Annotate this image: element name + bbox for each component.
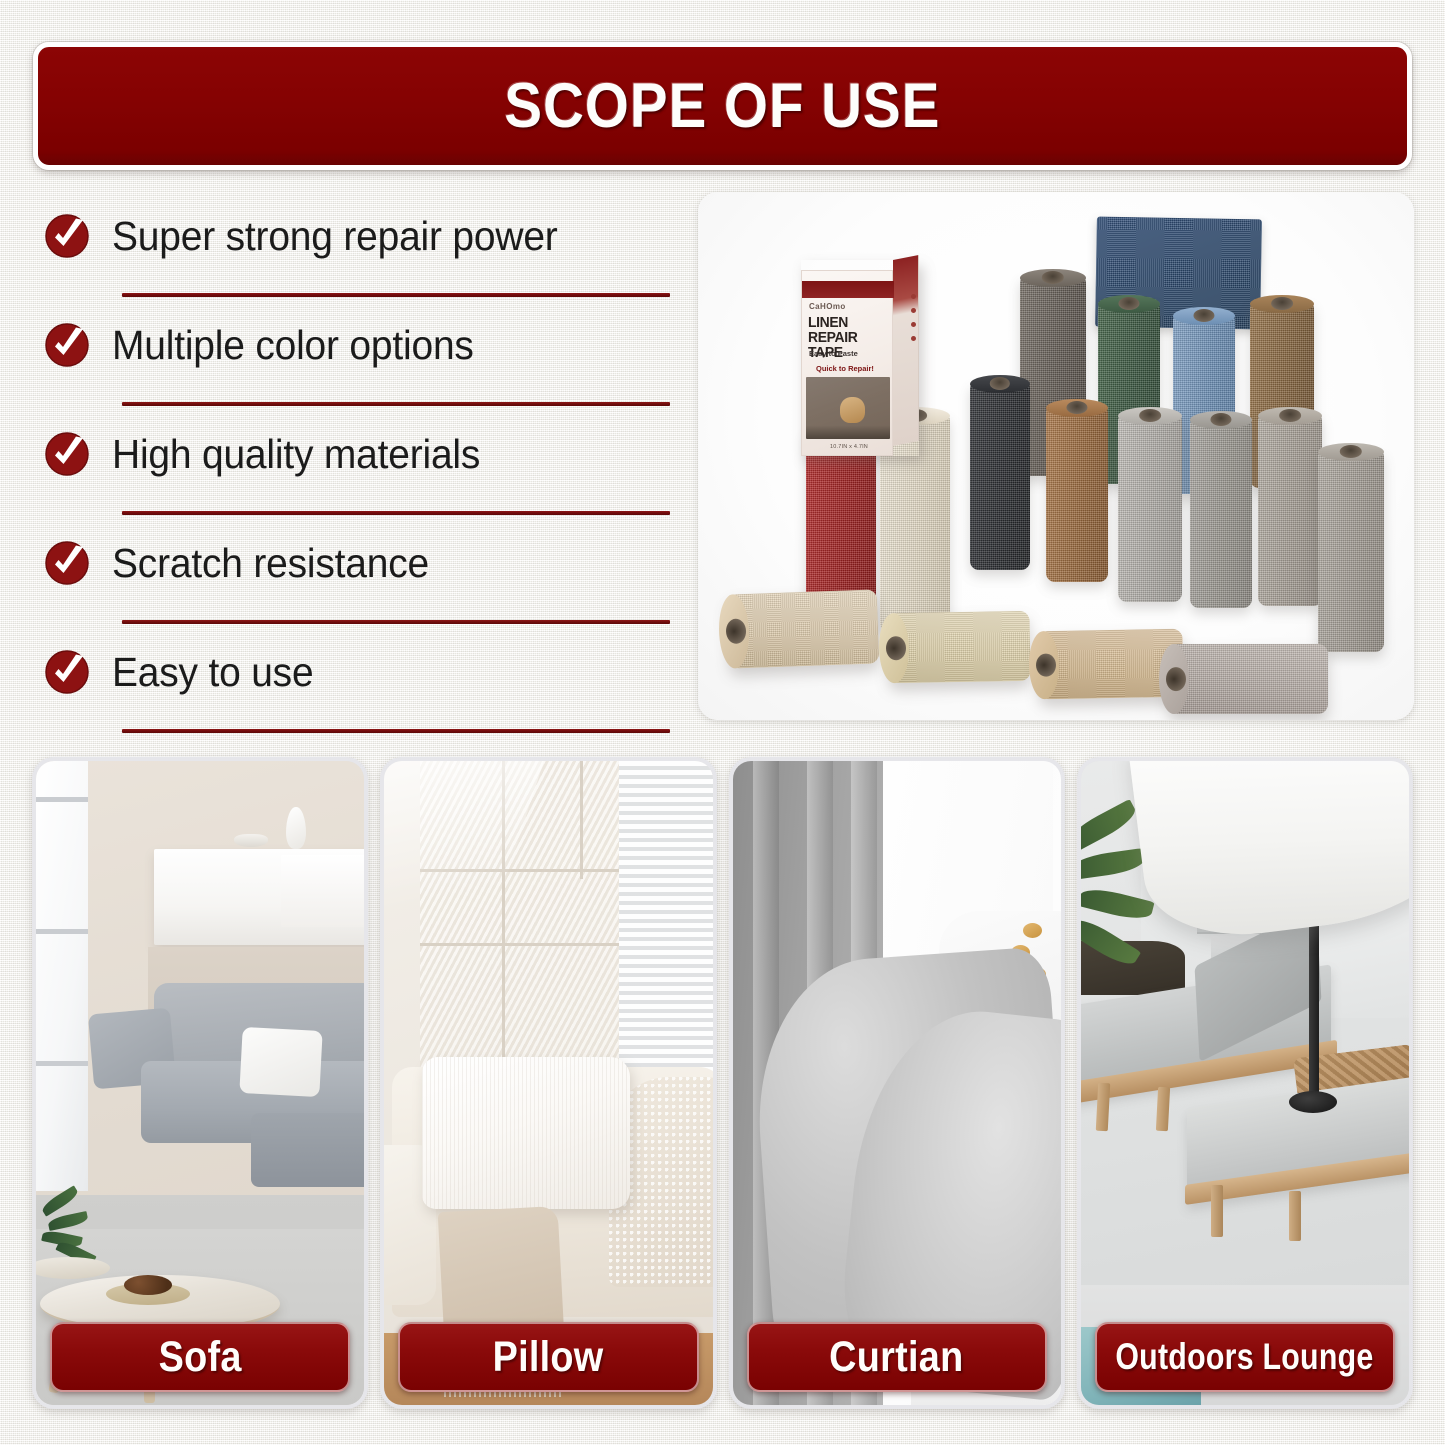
box-tagline-1: Easy to Paste xyxy=(809,349,858,358)
feature-label: High quality materials xyxy=(112,431,480,478)
product-photo: CaHOmo LINEN REPAIR TAPE Easy to Paste Q… xyxy=(698,192,1414,720)
product-box: CaHOmo LINEN REPAIR TAPE Easy to Paste Q… xyxy=(801,260,919,456)
tape-roll-gray-medium xyxy=(1190,418,1252,608)
use-case-panel-outdoors-lounge[interactable]: Outdoors Lounge xyxy=(1077,757,1413,1409)
feature-label: Scratch resistance xyxy=(112,540,429,587)
panel-label-outdoors-lounge: Outdoors Lounge xyxy=(1095,1322,1395,1392)
use-case-panel-curtain[interactable]: Curtian xyxy=(729,757,1065,1409)
brand-logo: CaHOmo xyxy=(809,302,846,311)
box-front-panel: CaHOmo LINEN REPAIR TAPE Easy to Paste Q… xyxy=(801,270,893,456)
feature-divider xyxy=(122,729,670,733)
tape-roll-rust xyxy=(1046,406,1108,582)
use-case-panel-pillow[interactable]: Pillow xyxy=(380,757,716,1409)
check-circle-icon xyxy=(44,322,90,368)
infographic-page: SCOPE OF USE Super strong repair power xyxy=(0,0,1445,1445)
feature-label: Multiple color options xyxy=(112,322,474,369)
box-feature-dots xyxy=(911,294,916,341)
box-top-band xyxy=(802,281,894,298)
feature-divider xyxy=(122,620,670,624)
feature-divider xyxy=(122,511,670,515)
feature-item: Easy to use xyxy=(40,632,665,741)
box-tagline-2: Quick to Repair! xyxy=(816,364,874,373)
check-circle-icon xyxy=(44,431,90,477)
feature-item: Multiple color options xyxy=(40,305,665,414)
check-circle-icon xyxy=(44,649,90,695)
sofa-scene-image xyxy=(36,761,364,1405)
box-lifestyle-photo xyxy=(806,377,890,439)
use-case-panel-sofa[interactable]: Sofa xyxy=(32,757,368,1409)
pillow-scene-image xyxy=(384,761,712,1405)
page-title: SCOPE OF USE xyxy=(504,70,940,142)
panel-label-sofa: Sofa xyxy=(50,1322,350,1392)
tape-roll-gray-warm xyxy=(1258,414,1322,606)
feature-divider xyxy=(122,293,670,297)
header-banner: SCOPE OF USE xyxy=(33,42,1412,170)
feature-item: High quality materials xyxy=(40,414,665,523)
tape-roll-lying-taupe xyxy=(1168,644,1328,714)
feature-item: Super strong repair power xyxy=(40,196,665,305)
feature-label: Super strong repair power xyxy=(112,213,558,260)
panel-label-pillow: Pillow xyxy=(398,1322,698,1392)
box-side-panel xyxy=(893,255,919,446)
use-case-panels: Sofa Pillow xyxy=(32,757,1413,1409)
check-circle-icon xyxy=(44,213,90,259)
tape-roll-gray-light xyxy=(1118,414,1182,602)
check-circle-icon xyxy=(44,540,90,586)
tape-roll-lying-sand xyxy=(887,611,1030,683)
outdoors-lounge-scene-image xyxy=(1081,761,1409,1405)
feature-label: Easy to use xyxy=(112,649,313,696)
tape-roll-lying-beige xyxy=(727,589,879,668)
box-spec-text: 10.7IN x 4.7IN xyxy=(808,444,890,450)
panel-label-curtain: Curtian xyxy=(747,1322,1047,1392)
curtain-scene-image xyxy=(733,761,1061,1405)
feature-list: Super strong repair power Multiple color… xyxy=(40,196,665,741)
feature-divider xyxy=(122,402,670,406)
tape-roll-gray-tall-right xyxy=(1318,450,1384,652)
tape-roll-charcoal xyxy=(970,382,1030,570)
product-photo-card: CaHOmo LINEN REPAIR TAPE Easy to Paste Q… xyxy=(698,192,1414,720)
feature-item: Scratch resistance xyxy=(40,523,665,632)
